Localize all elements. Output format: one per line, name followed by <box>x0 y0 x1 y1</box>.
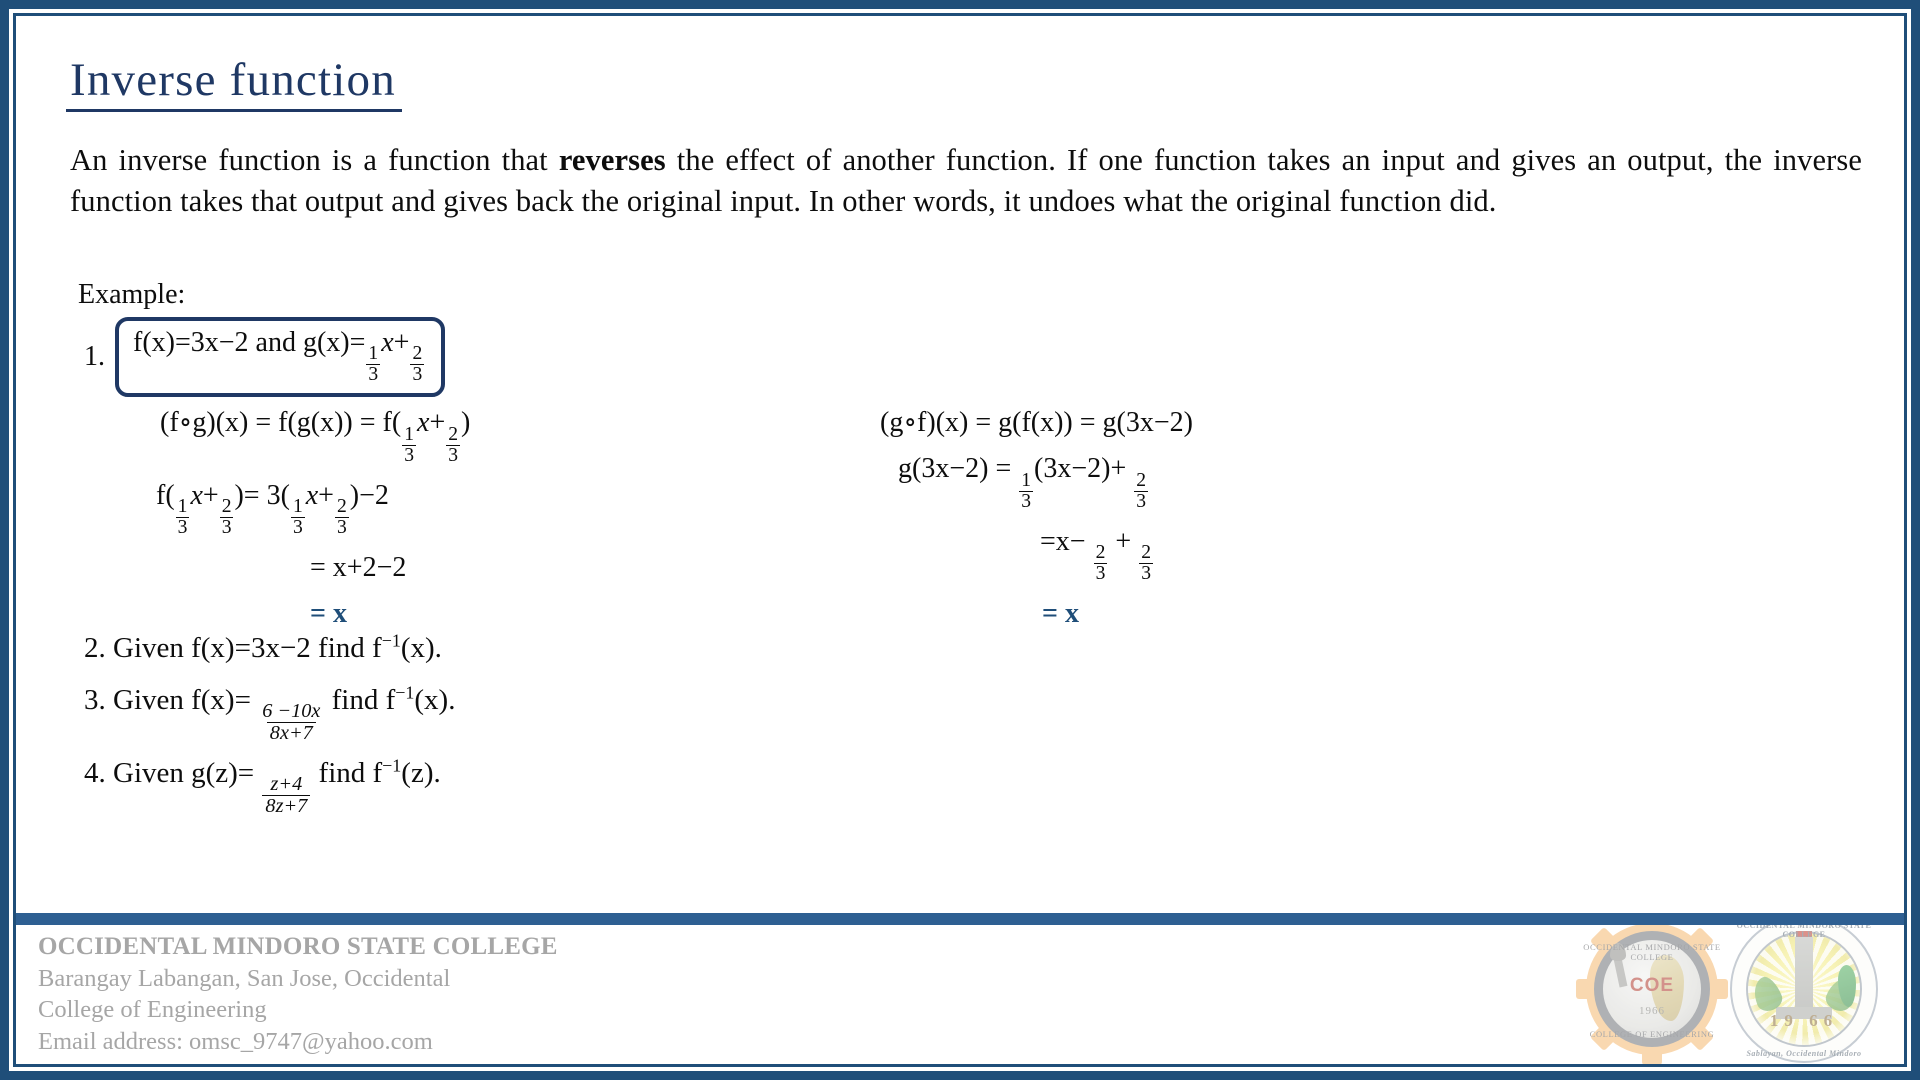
example-1-number: 1. <box>84 341 105 373</box>
fraction-denominator: 3 <box>446 445 460 466</box>
exercise-mid: find f <box>311 757 382 789</box>
fraction-two-thirds: 23 <box>446 425 460 466</box>
fraction-denominator: 3 <box>176 517 190 538</box>
derivation-right-line-1: (g∘f)(x) = g(f(x)) = g(3x−2) <box>880 405 1193 439</box>
variable-x: x <box>381 327 393 358</box>
fraction-rational-expression: 6 −10x8x+7 <box>259 701 323 743</box>
plus-operator: + <box>203 480 219 511</box>
slide-footer: OCCIDENTAL MINDORO STATE COLLEGE Baranga… <box>16 925 1904 1064</box>
exercise-mid: find f <box>324 684 395 716</box>
footer-address-block: OCCIDENTAL MINDORO STATE COLLEGE Baranga… <box>38 931 558 1057</box>
fraction-two-thirds: 23 <box>1134 471 1148 512</box>
footer-email-line: Email address: omsc_9747@yahoo.com <box>38 1026 558 1057</box>
derivation-right-column: (g∘f)(x) = g(f(x)) = g(3x−2) g(3x−2) = 1… <box>880 405 1193 643</box>
variable-x: x <box>417 407 429 438</box>
example-label: Example: <box>78 279 1870 311</box>
omsc-seal-icon: OCCIDENTAL MINDORO STATE COLLEGE 19 66 S… <box>1730 925 1878 1063</box>
fraction-two-thirds: 23 <box>410 344 424 385</box>
boxed-equation: f(x)=3x−2 and g(x)=13x+23 <box>133 327 425 358</box>
derivation-right-line-2: g(3x−2) = 13(3x−2)+ 23 <box>898 453 1193 511</box>
plus-operator: + <box>429 407 445 438</box>
fraction-numerator: 1 <box>366 344 380 364</box>
intro-text-before: An inverse function is a function that <box>70 143 559 177</box>
fraction-numerator: 2 <box>1094 543 1108 563</box>
footer-organization-name: OCCIDENTAL MINDORO STATE COLLEGE <box>38 931 558 963</box>
fraction-two-thirds: 23 <box>335 497 349 538</box>
college-of-engineering-seal-icon: OCCIDENTAL MINDORO STATE COLLEGE COE 196… <box>1576 925 1728 1064</box>
derivation-left-column: (f∘g)(x) = f(g(x)) = f(13x+23) f(13x+23)… <box>160 405 470 643</box>
fraction-one-third: 13 <box>176 497 190 538</box>
intro-bold-word: reverses <box>559 143 666 177</box>
fraction-denominator: 3 <box>220 517 234 538</box>
fraction-numerator: 1 <box>1019 471 1033 491</box>
fraction-one-third: 13 <box>291 497 305 538</box>
fraction-numerator: 1 <box>402 425 416 445</box>
exercise-text: Given f(x)= <box>113 684 258 716</box>
exercise-text: Given g(z)= <box>113 757 261 789</box>
fraction-numerator: 2 <box>220 497 234 517</box>
fraction-one-third: 13 <box>366 344 380 385</box>
fraction-denominator: 3 <box>410 364 424 385</box>
fraction-numerator: 2 <box>410 344 424 364</box>
slide-content: Inverse function An inverse function is … <box>16 16 1904 913</box>
monument-icon <box>1795 937 1813 1011</box>
omsc-arc-top-text: OCCIDENTAL MINDORO STATE COLLEGE <box>1730 925 1878 939</box>
fraction-denominator: 3 <box>1139 563 1153 584</box>
inverse-exponent: −1 <box>395 682 414 702</box>
text-segment: =x− <box>1040 526 1093 557</box>
page-title: Inverse function <box>66 54 402 112</box>
boxed-given-functions: f(x)=3x−2 and g(x)=13x+23 <box>115 317 445 397</box>
text-segment: )−2 <box>350 480 389 511</box>
fraction-denominator: 8z+7 <box>262 795 310 817</box>
plus-operator: + <box>394 327 410 358</box>
exercise-suffix: (x). <box>414 684 455 716</box>
fraction-numerator: 2 <box>335 497 349 517</box>
fraction-numerator: z+4 <box>267 774 305 795</box>
fraction-denominator: 3 <box>335 517 349 538</box>
fraction-denominator: 3 <box>1134 491 1148 512</box>
text-segment: ) <box>461 407 470 438</box>
example-1-row: 1. f(x)=3x−2 and g(x)=13x+23 <box>84 317 1870 397</box>
exercise-suffix: (z). <box>401 757 440 789</box>
exercise-number: 4. <box>84 757 106 789</box>
fraction-denominator: 8x+7 <box>267 722 316 744</box>
derivation-left-line-2: f(13x+23)= 3(13x+23)−2 <box>156 480 470 538</box>
derivation-right-result: = x <box>1042 598 1193 630</box>
boxed-lhs: f(x)=3x−2 and g(x)= <box>133 327 365 358</box>
variable-x: x <box>306 480 318 511</box>
coe-arc-top-text: OCCIDENTAL MINDORO STATE COLLEGE <box>1576 942 1728 962</box>
derivation-right-line-3: =x− 23 + 23 <box>1040 526 1193 584</box>
footer-department-line: College of Engineering <box>38 994 558 1025</box>
fraction-numerator: 1 <box>291 497 305 517</box>
fraction-one-third: 13 <box>1019 471 1033 512</box>
exercise-item-4: 4. Given g(z)= z+48z+7 find f−1(z). <box>84 752 1870 817</box>
coe-arc-bottom-text: COLLEGE OF ENGINEERING <box>1576 1029 1728 1039</box>
text-segment: )= 3( <box>234 480 289 511</box>
fraction-numerator: 2 <box>1134 471 1148 491</box>
fraction-one-third: 13 <box>402 425 416 466</box>
fraction-denominator: 3 <box>402 445 416 466</box>
exercise-number: 3. <box>84 684 106 716</box>
text-segment: (3x−2)+ <box>1034 453 1133 484</box>
fraction-two-thirds: 23 <box>220 497 234 538</box>
text-segment: (f∘g)(x) = f(g(x)) = f( <box>160 407 401 438</box>
coe-year: 1966 <box>1576 1005 1728 1017</box>
text-segment: g(3x−2) = <box>898 453 1018 484</box>
fraction-numerator: 2 <box>1139 543 1153 563</box>
fraction-rational-expression: z+48z+7 <box>262 774 310 816</box>
fraction-two-thirds: 23 <box>1094 543 1108 584</box>
footer-divider-bar <box>16 913 1904 925</box>
derivation-left-result: = x <box>310 598 470 630</box>
omsc-year: 19 66 <box>1730 1011 1878 1031</box>
intro-paragraph: An inverse function is a function that r… <box>70 140 1862 224</box>
fraction-numerator: 1 <box>176 497 190 517</box>
fraction-denominator: 3 <box>366 364 380 385</box>
fraction-numerator: 6 −10x <box>259 701 323 722</box>
variable-x: x <box>190 480 202 511</box>
fraction-denominator: 3 <box>291 517 305 538</box>
plus-operator: + <box>1108 526 1138 557</box>
exercise-item-3: 3. Given f(x)= 6 −10x8x+7 find f−1(x). <box>84 679 1870 744</box>
derivation-left-line-3: = x+2−2 <box>310 552 470 584</box>
derivation-left-line-1: (f∘g)(x) = f(g(x)) = f(13x+23) <box>160 405 470 465</box>
footer-logos: OCCIDENTAL MINDORO STATE COLLEGE COE 196… <box>1576 925 1878 1064</box>
fraction-two-thirds: 23 <box>1139 543 1153 584</box>
inverse-exponent: −1 <box>382 755 401 775</box>
derivations-area: (f∘g)(x) = f(g(x)) = f(13x+23) f(13x+23)… <box>60 405 1870 615</box>
exercise-list: 2. Given f(x)=3x−2 find f−1(x). 3. Given… <box>84 627 1870 816</box>
text-segment: f( <box>156 480 175 511</box>
omsc-arc-bottom-text: Sablayan, Occidental Mindoro <box>1730 1049 1878 1058</box>
coe-monogram: COE <box>1576 975 1728 997</box>
exercise-number: 2. <box>84 632 106 664</box>
footer-address-line: Barangay Labangan, San Jose, Occidental <box>38 963 558 994</box>
fraction-denominator: 3 <box>1019 491 1033 512</box>
fraction-numerator: 2 <box>446 425 460 445</box>
fraction-denominator: 3 <box>1094 563 1108 584</box>
slide-inner-frame: Inverse function An inverse function is … <box>13 13 1907 1067</box>
presentation-slide: Inverse function An inverse function is … <box>0 0 1920 1080</box>
plus-operator: + <box>318 480 334 511</box>
